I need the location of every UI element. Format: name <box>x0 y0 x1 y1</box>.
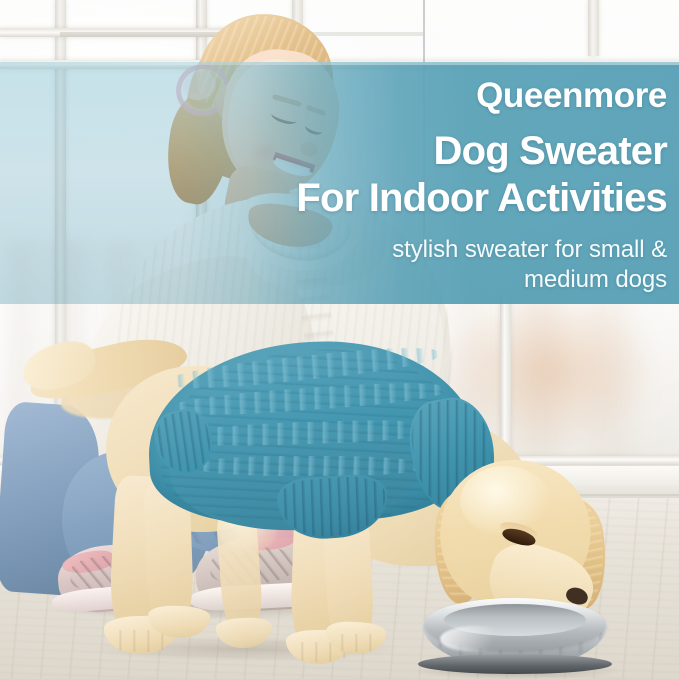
headline-line-2: For Indoor Activities <box>296 178 667 218</box>
window-mullion-vertical <box>588 0 599 56</box>
subtitle-line-1: stylish sweater for small & <box>392 236 667 264</box>
brand-name: Queenmore <box>476 78 667 113</box>
dog-sweater-cable-braid <box>196 456 422 476</box>
window-glass-seam <box>423 0 425 62</box>
dog-toes <box>330 634 382 652</box>
dog-figure <box>20 330 679 679</box>
dog-bowl-highlight <box>440 626 512 652</box>
subtitle-line-2: medium dogs <box>524 266 667 294</box>
marketing-text-block: Queenmore Dog Sweater For Indoor Activit… <box>0 62 679 304</box>
dog-bowl-base <box>418 654 612 674</box>
product-image-canvas: Queenmore Dog Sweater For Indoor Activit… <box>0 0 679 679</box>
photo-scene: Queenmore Dog Sweater For Indoor Activit… <box>0 0 679 679</box>
headline-line-1: Dog Sweater <box>434 131 668 171</box>
